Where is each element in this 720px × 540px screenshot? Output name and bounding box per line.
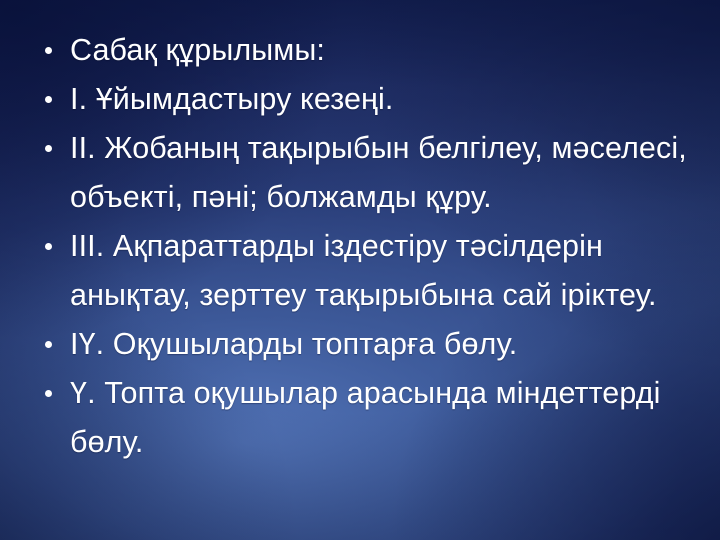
- list-item: ІҮ. Оқушыларды топтарға бөлу.: [34, 320, 688, 369]
- list-item: ІІІ. Ақпараттарды іздестіру тәсілдерін а…: [34, 222, 688, 320]
- slide-body-placeholder: Сабақ құрылымы: І. Ұйымдастыру кезеңі. І…: [34, 26, 688, 467]
- bullet-dot-icon: [45, 390, 52, 397]
- list-item: Сабақ құрылымы:: [34, 26, 688, 75]
- list-item: ІІ. Жобаның тақырыбын белгілеу, мәселесі…: [34, 124, 688, 222]
- bullet-dot-icon: [45, 96, 52, 103]
- bullet-text: І. Ұйымдастыру кезеңі.: [70, 75, 688, 124]
- bullet-dot-icon: [45, 243, 52, 250]
- list-item: І. Ұйымдастыру кезеңі.: [34, 75, 688, 124]
- list-item: Ү. Топта оқушылар арасында міндеттерді б…: [34, 369, 688, 467]
- bullet-dot-icon: [45, 145, 52, 152]
- bullet-dot-icon: [45, 341, 52, 348]
- bullet-text: ІІІ. Ақпараттарды іздестіру тәсілдерін а…: [70, 222, 688, 320]
- presentation-slide: Сабақ құрылымы: І. Ұйымдастыру кезеңі. І…: [0, 0, 720, 540]
- bullet-list: Сабақ құрылымы: І. Ұйымдастыру кезеңі. І…: [34, 26, 688, 467]
- bullet-dot-icon: [45, 47, 52, 54]
- bullet-text: Сабақ құрылымы:: [70, 26, 688, 75]
- bullet-text: ІІ. Жобаның тақырыбын белгілеу, мәселесі…: [70, 124, 688, 222]
- bullet-text: Ү. Топта оқушылар арасында міндеттерді б…: [70, 369, 688, 467]
- bullet-text: ІҮ. Оқушыларды топтарға бөлу.: [70, 320, 688, 369]
